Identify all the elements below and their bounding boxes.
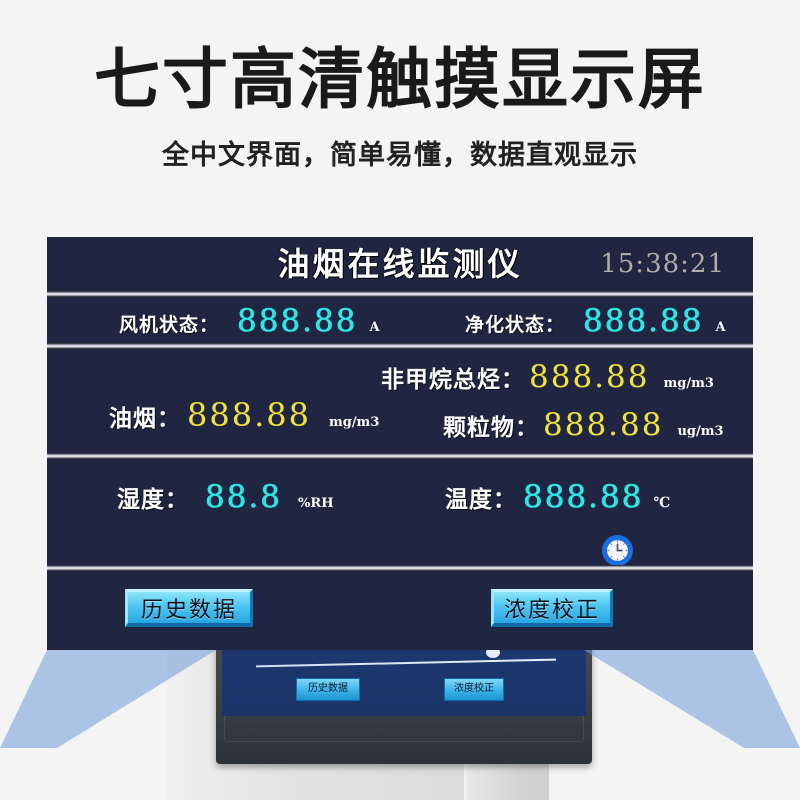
- purifier-status-unit: A: [716, 320, 726, 335]
- page-subtitle: 全中文界面，简单易懂，数据直观显示: [0, 140, 800, 172]
- environment-panel: 湿度： 88.8 %RH 温度： 888.88 ℃: [47, 459, 753, 565]
- smoke-unit: mg/m3: [329, 415, 379, 430]
- screen-title-panel: 油烟在线监测仪 15:38:21: [47, 237, 753, 291]
- clock-icon[interactable]: [602, 535, 633, 566]
- fan-status-value: 888.88: [237, 303, 357, 339]
- smoke-value: 888.88: [187, 396, 311, 434]
- nmhc-unit: mg/m3: [663, 376, 713, 391]
- concentration-calibration-button[interactable]: 浓度校正: [491, 589, 613, 627]
- purifier-status-value: 888.88: [583, 303, 703, 339]
- humidity-cell: 湿度： 88.8 %RH: [117, 479, 333, 515]
- hero-section: 七寸高清触摸显示屏 全中文界面，简单易懂，数据直观显示: [0, 0, 800, 200]
- page-title: 七寸高清触摸显示屏: [0, 44, 800, 116]
- particulate-value: 888.88: [543, 407, 663, 443]
- status-panel: 风机状态： 888.88 A 净化状态： 888.88 A: [47, 297, 753, 343]
- particulate-cell: 颗粒物： 888.88 ug/m3: [443, 407, 724, 443]
- purifier-status-cell: 净化状态： 888.88 A: [465, 303, 726, 339]
- particulate-label: 颗粒物：: [443, 408, 539, 442]
- fan-status-cell: 风机状态： 888.88 A: [119, 303, 380, 339]
- history-data-button-label: 历史数据: [141, 592, 237, 624]
- smoke-cell: 油烟： 888.88 mg/m3: [109, 396, 379, 434]
- temperature-cell: 温度： 888.88 ℃: [445, 479, 670, 515]
- temperature-value: 888.88: [523, 479, 643, 515]
- smoke-label: 油烟：: [109, 399, 181, 433]
- mini-divider: [256, 659, 556, 668]
- monitor-screen: 油烟在线监测仪 15:38:21 风机状态： 888.88 A 净化状态： 88…: [47, 237, 753, 650]
- nmhc-cell: 非甲烷总烃： 888.88 mg/m3: [381, 359, 714, 395]
- concentration-calibration-button-label: 浓度校正: [504, 592, 600, 624]
- nmhc-label: 非甲烷总烃：: [381, 360, 525, 394]
- mini-calibration-button: 浓度校正: [444, 678, 504, 701]
- action-panel: 历史数据 浓度校正: [47, 571, 753, 650]
- fan-status-label: 风机状态：: [119, 310, 219, 337]
- humidity-label: 湿度：: [117, 480, 189, 514]
- temperature-label: 温度：: [445, 480, 517, 514]
- nmhc-value: 888.88: [529, 359, 649, 395]
- page-root: 七寸高清触摸显示屏 全中文界面，简单易懂，数据直观显示 湿度：88.8 %RH …: [0, 0, 800, 800]
- emission-panel: 油烟： 888.88 mg/m3 非甲烷总烃： 888.88 mg/m3 颗粒物…: [47, 349, 753, 453]
- humidity-value: 88.8: [205, 479, 282, 515]
- humidity-unit: %RH: [298, 496, 333, 511]
- history-data-button[interactable]: 历史数据: [125, 589, 253, 627]
- screen-clock: 15:38:21: [600, 248, 725, 280]
- purifier-status-label: 净化状态：: [465, 310, 565, 337]
- mini-history-button: 历史数据: [296, 678, 360, 701]
- particulate-unit: ug/m3: [677, 424, 723, 439]
- fan-status-unit: A: [370, 320, 380, 335]
- temperature-unit: ℃: [653, 495, 670, 511]
